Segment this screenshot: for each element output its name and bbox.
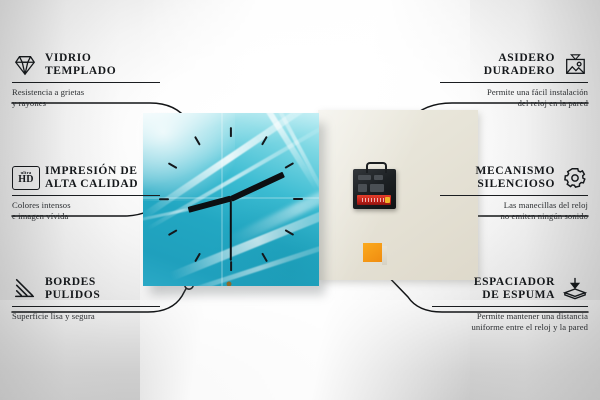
callout-polished-edges: BORDES PULIDOS Superficie lisa y segura — [12, 276, 160, 322]
infographic-canvas: VIDRIO TEMPLADO Resistencia a grietas y … — [0, 0, 600, 400]
diamond-icon — [12, 53, 38, 77]
clock-second-hand — [230, 199, 232, 261]
polished-edge-icon — [12, 277, 38, 301]
foam-press-icon — [562, 277, 588, 301]
callout-desc-line1: Permite una fácil instalación — [487, 87, 588, 97]
callout-divider — [432, 306, 588, 307]
hd-icon-big-label: HD — [18, 175, 34, 185]
callout-desc-line1: Colores intensos — [12, 200, 71, 210]
callout-desc-line2: e imagen vívida — [12, 211, 68, 221]
callout-divider — [440, 195, 588, 196]
mechanism-hanger-hook — [366, 162, 387, 173]
clock-tick — [293, 198, 303, 200]
callout-title-line1: VIDRIO — [45, 52, 91, 64]
callout-title-line2: TEMPLADO — [45, 65, 116, 77]
callout-durable-hanger: ASIDERO DURADERO Permite una fácil insta… — [440, 52, 588, 110]
callout-title-line2: DURADERO — [484, 65, 555, 77]
callout-title-line1: ESPACIADOR — [474, 276, 555, 288]
wall-clock — [143, 113, 319, 286]
callout-foam-spacer: ESPACIADOR DE ESPUMA Permite mantener un… — [432, 276, 588, 334]
callout-title-line1: BORDES — [45, 276, 96, 288]
callout-desc-line1: Resistencia a grietas — [12, 87, 84, 97]
clock-shade — [209, 191, 319, 286]
mechanism-detail — [370, 184, 384, 192]
clock-tick — [230, 261, 232, 271]
callout-title-line2: DE ESPUMA — [482, 289, 555, 301]
clock-mechanism — [353, 169, 396, 209]
callout-desc-line1: Permite mantener una distancia — [477, 311, 588, 321]
mechanism-detail — [358, 184, 367, 192]
foam-spacer — [363, 243, 382, 262]
picture-hanger-icon — [562, 53, 588, 77]
callout-tempered-glass: VIDRIO TEMPLADO Resistencia a grietas y … — [12, 52, 160, 110]
callout-divider — [12, 306, 160, 307]
callout-divider — [440, 82, 588, 83]
mechanism-battery — [357, 195, 391, 205]
clock-tick — [159, 198, 169, 200]
mechanism-detail — [374, 175, 383, 180]
callout-title-line2: PULIDOS — [45, 289, 100, 301]
battery-label — [362, 198, 384, 202]
callout-desc-line2: uniforme entre el reloj y la pared — [472, 322, 589, 332]
callout-desc-line2: del reloj en la pared — [518, 98, 588, 108]
clock-pivot — [227, 282, 232, 287]
callout-divider — [12, 195, 160, 196]
callout-silent-mechanism: MECANISMO SILENCIOSO Las manecillas del … — [440, 165, 588, 223]
callout-title-line2: SILENCIOSO — [477, 178, 555, 190]
battery-positive-cap — [385, 197, 390, 203]
ultra-hd-icon: ultra HD — [12, 166, 38, 190]
callout-title-line1: IMPRESIÓN DE — [45, 165, 138, 177]
callout-desc-line1: Las manecillas del reloj — [504, 200, 588, 210]
gear-icon — [562, 166, 588, 190]
mechanism-detail — [358, 175, 371, 180]
callout-hd-print: ultra HD IMPRESIÓN DE ALTA CALIDAD Color… — [12, 165, 160, 223]
callout-desc-line1: Superficie lisa y segura — [12, 311, 95, 321]
callout-divider — [12, 82, 160, 83]
clock-tick — [230, 127, 232, 137]
foam-spacer-side — [382, 246, 387, 265]
callout-desc-line2: y rayones — [12, 98, 46, 108]
callout-desc-line2: no emiten ningún sonido — [500, 211, 588, 221]
callout-title-line2: ALTA CALIDAD — [45, 178, 138, 190]
callout-title-line1: ASIDERO — [498, 52, 555, 64]
callout-title-line1: MECANISMO — [475, 165, 555, 177]
